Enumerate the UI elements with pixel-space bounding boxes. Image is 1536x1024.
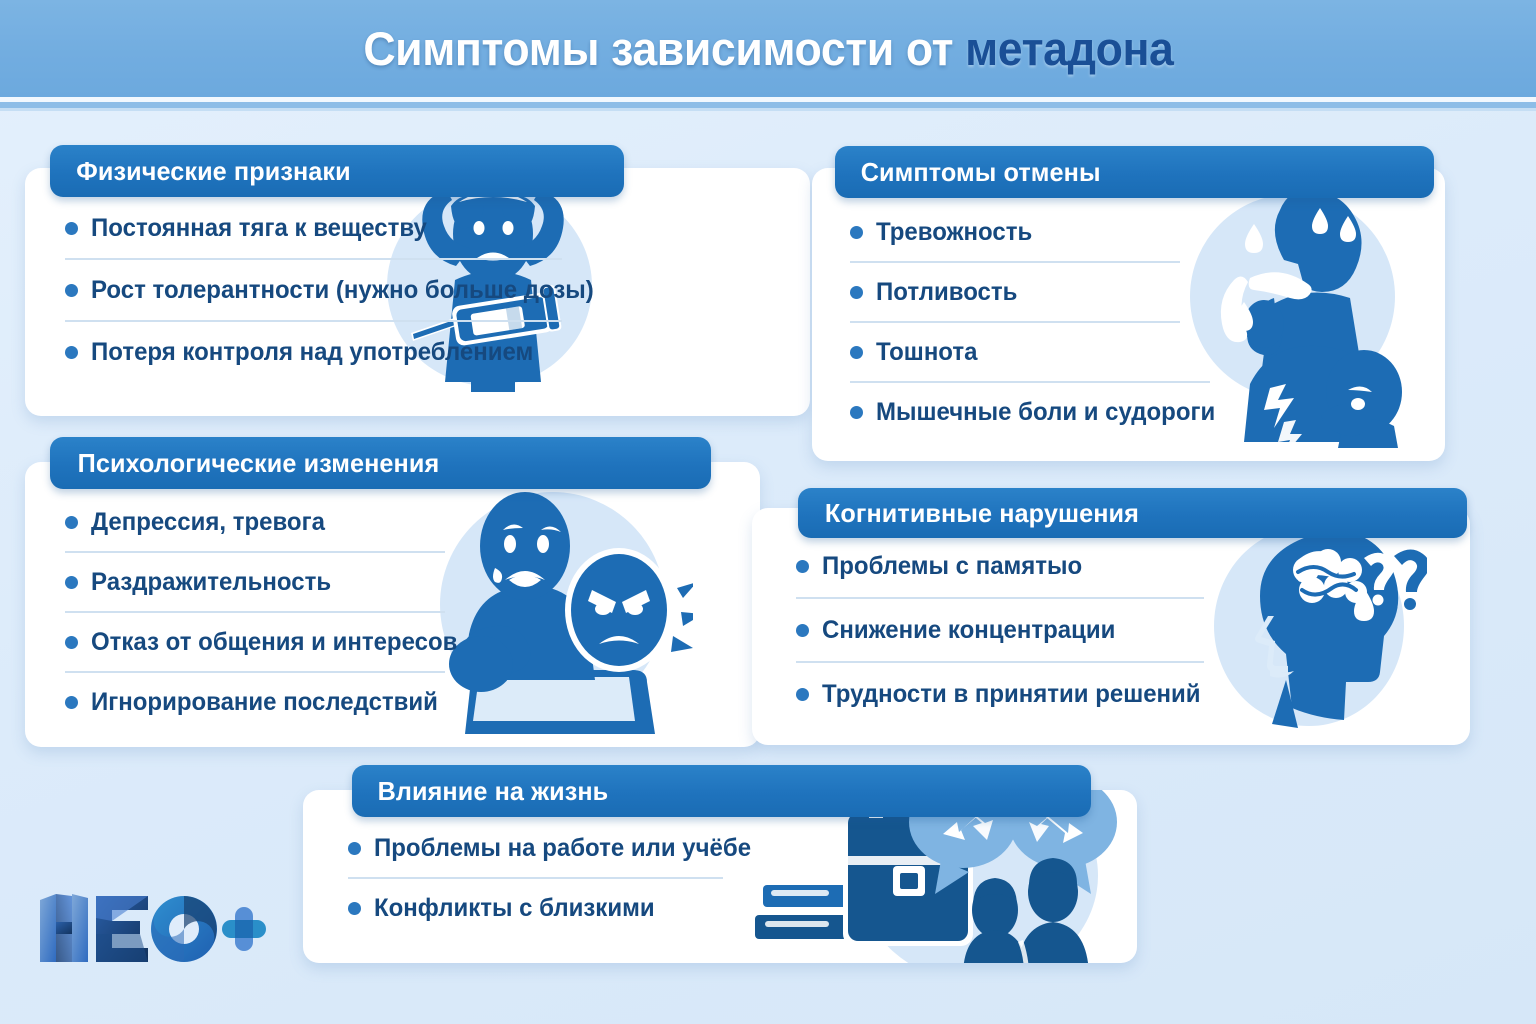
sad-person-with-angry-face-icon (443, 484, 693, 734)
list-item-label: Трудности в принятии решений (822, 680, 1201, 709)
bullet-dot-icon (850, 286, 863, 299)
tab-label: Симптомы отмены (861, 157, 1101, 188)
list-separator (65, 671, 445, 673)
list-item-label: Депрессия, тревога (91, 508, 325, 537)
list-separator (348, 877, 723, 879)
list-separator (65, 320, 562, 322)
tab-cognitive-impairment[interactable]: Когнитивные нарушения (798, 488, 1467, 538)
list-separator (850, 321, 1180, 323)
tab-life-impact[interactable]: Влияние на жизнь (352, 765, 1091, 817)
list-item-label: Снижение концентрации (822, 616, 1115, 645)
sweating-person-in-pain-icon (1192, 178, 1427, 448)
list-item-label: Постоянная тяга к веществу (91, 214, 427, 243)
card-physical-signs: Постоянная тяга к веществу Рост толерант… (25, 168, 810, 416)
list-item-label: Проблемы на работе или учёбе (374, 834, 751, 863)
list-separator (65, 611, 445, 613)
page-title-main: Симптомы зависимости от (363, 22, 965, 75)
bullet-dot-icon (850, 346, 863, 359)
tab-label: Психологические изменения (78, 448, 440, 479)
card-withdrawal-symptoms: Тревожность Потливость Тошнота Мышечные … (812, 168, 1445, 461)
bullet-list-withdrawal-symptoms: Тревожность Потливость Тошнота Мышечные … (850, 216, 1150, 428)
list-item-label: Проблемы с памятыо (822, 552, 1082, 581)
list-item-label: Мышечные боли и судороги (876, 398, 1215, 427)
bullet-list-life-impact: Проблемы на работе или учёбе Конфликты с… (348, 832, 648, 924)
bullet-dot-icon (65, 636, 78, 649)
infographic-page: Симптомы зависимости от метадона (0, 0, 1536, 1024)
bullet-dot-icon (796, 560, 809, 573)
list-item-label: Игнорирование последствий (91, 688, 438, 717)
list-separator (796, 661, 1204, 663)
bullet-dot-icon (65, 576, 78, 589)
bullet-list-psychological-changes: Депрессия, тревога Раздражительность Отк… (65, 506, 365, 718)
list-separator (850, 381, 1210, 383)
bullet-list-cognitive-impairment: Проблемы с памятыо Снижение концентрации… (796, 550, 1096, 710)
list-separator (850, 261, 1180, 263)
head-with-brain-question-marks-icon (1212, 520, 1427, 735)
list-item: Игнорирование последствий (65, 686, 365, 718)
list-item-label: Тревожность (876, 218, 1032, 247)
tab-psychological-changes[interactable]: Психологические изменения (50, 437, 711, 489)
header-band: Симптомы зависимости от метадона (0, 0, 1536, 97)
list-item: Потливость (850, 276, 1150, 308)
neo-plus-logo (36, 888, 266, 968)
bullet-dot-icon (348, 842, 361, 855)
list-item: Проблемы на работе или учёбе (348, 832, 648, 864)
list-item: Мышечные боли и судороги (850, 396, 1150, 428)
bullet-dot-icon (796, 688, 809, 701)
list-item: Отказ от общения и интересов (65, 626, 365, 658)
card-psychological-changes: Депрессия, тревога Раздражительность Отк… (25, 462, 760, 747)
tab-label: Когнитивные нарушения (825, 498, 1139, 529)
tab-label: Влияние на жизнь (378, 776, 609, 807)
list-item-label: Потливость (876, 278, 1017, 307)
tab-physical-signs[interactable]: Физические признаки (50, 145, 624, 197)
list-item: Конфликты с близкими (348, 892, 648, 924)
tab-label: Физические признаки (76, 156, 351, 187)
list-item-label: Отказ от общения и интересов (91, 628, 457, 657)
list-item: Постоянная тяга к веществу (65, 212, 365, 244)
bullet-dot-icon (65, 696, 78, 709)
card-cognitive-impairment: Проблемы с памятыо Снижение концентрации… (752, 508, 1470, 745)
bullet-dot-icon (65, 516, 78, 529)
list-item-label: Конфликты с близкими (374, 894, 655, 923)
list-item: Проблемы с памятыо (796, 550, 1096, 582)
list-item-label: Тошнота (876, 338, 977, 367)
list-item: Трудности в принятии решений (796, 678, 1096, 710)
bullet-dot-icon (850, 406, 863, 419)
bullet-dot-icon (348, 902, 361, 915)
tab-withdrawal-symptoms[interactable]: Симптомы отмены (835, 146, 1434, 198)
list-item: Раздражительность (65, 566, 365, 598)
bullet-dot-icon (65, 284, 78, 297)
list-item: Тревожность (850, 216, 1150, 248)
list-item-label: Раздражительность (91, 568, 331, 597)
bullet-dot-icon (65, 222, 78, 235)
page-title: Симптомы зависимости от метадона (363, 21, 1173, 76)
list-item: Потеря контроля над употреблением (65, 336, 365, 368)
list-item-label: Потеря контроля над употреблением (91, 338, 533, 367)
bullet-dot-icon (850, 226, 863, 239)
list-item: Рост толерантности (нужно больше дозы) (65, 274, 365, 306)
header-divider-blue-light (0, 108, 1536, 111)
bullet-list-physical-signs: Постоянная тяга к веществу Рост толерант… (65, 212, 365, 368)
bullet-dot-icon (65, 346, 78, 359)
list-item: Тошнота (850, 336, 1150, 368)
list-item-label: Рост толерантности (нужно больше дозы) (91, 276, 594, 305)
list-item: Снижение концентрации (796, 614, 1096, 646)
list-item: Депрессия, тревога (65, 506, 365, 538)
page-title-accent: метадона (965, 22, 1173, 75)
list-separator (65, 551, 445, 553)
list-separator (796, 597, 1204, 599)
list-separator (65, 258, 562, 260)
bullet-dot-icon (796, 624, 809, 637)
